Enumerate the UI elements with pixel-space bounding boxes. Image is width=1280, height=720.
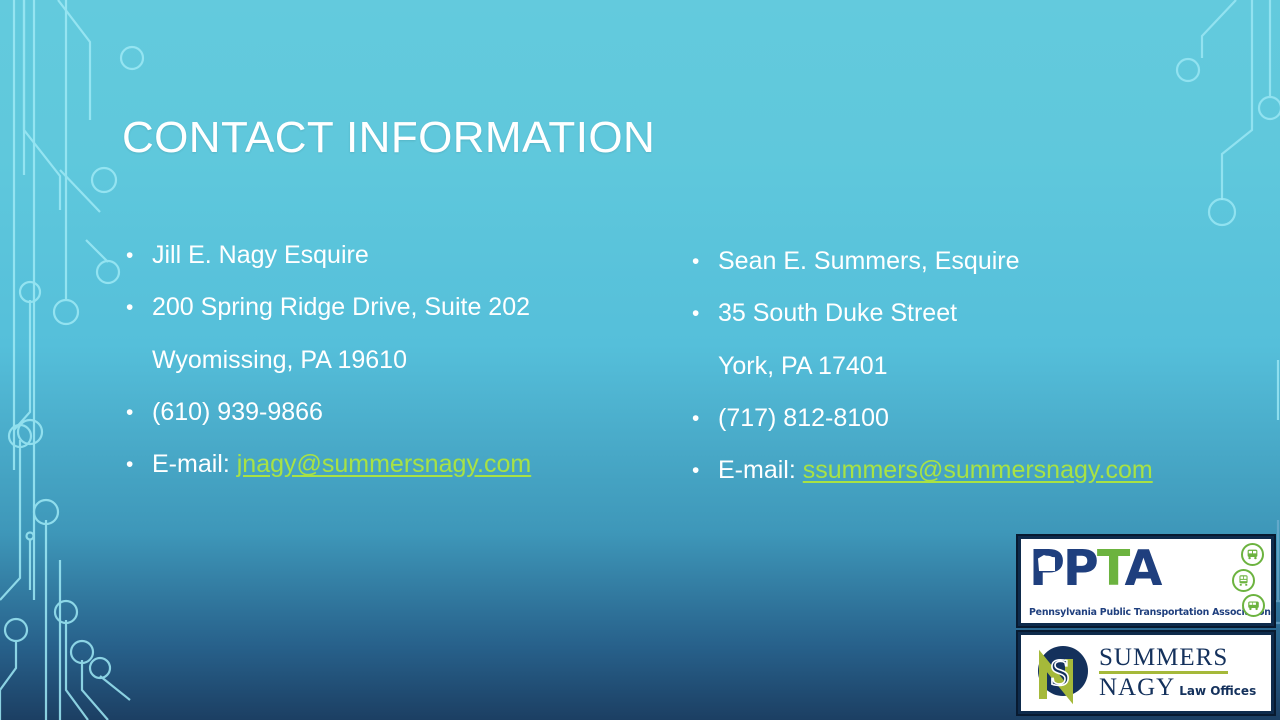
bullet-icon: • — [692, 406, 718, 432]
contact-phone: (610) 939-9866 — [152, 400, 323, 425]
train-icon — [1232, 569, 1255, 592]
list-item: • Jill E. Nagy Esquire — [126, 243, 646, 269]
bus-icon — [1241, 543, 1264, 566]
ppta-acronym-a: A — [1124, 540, 1160, 597]
list-item: • Wyomissing, PA 19610 — [126, 348, 646, 374]
ppta-tagline: Pennsylvania Public Transportation Assoc… — [1029, 607, 1271, 618]
page-title: CONTACT INFORMATION — [122, 113, 655, 163]
bullet-icon: • — [126, 243, 152, 269]
bullet-icon: • — [126, 400, 152, 426]
list-item: • (717) 812-8100 — [692, 406, 1222, 432]
bullet-icon: • — [126, 452, 152, 478]
email-link[interactable]: jnagy@summersnagy.com — [237, 450, 531, 478]
van-icon — [1242, 594, 1265, 617]
list-item: • Sean E. Summers, Esquire — [692, 249, 1222, 275]
law-offices-label: Law Offices — [1179, 684, 1256, 698]
contact-name: Jill E. Nagy Esquire — [152, 243, 369, 268]
list-item: • E-mail: jnagy@summersnagy.com — [126, 452, 646, 478]
contact-phone: (717) 812-8100 — [718, 406, 889, 431]
ppta-logo: PPTA Pennsylvania Public Transportation … — [1018, 536, 1274, 626]
nagy-wordmark: NAGY — [1099, 675, 1175, 701]
list-item: • York, PA 17401 — [692, 354, 1222, 380]
list-item: • 35 South Duke Street — [692, 301, 1222, 327]
bullet-icon: • — [692, 458, 718, 484]
list-item: • 200 Spring Ridge Drive, Suite 202 — [126, 295, 646, 321]
bullet-icon: • — [126, 295, 152, 321]
bullet-icon: • — [692, 301, 718, 327]
list-item: • E-mail: ssummers@summersnagy.com — [692, 458, 1222, 484]
summers-wordmark: SUMMERS — [1099, 645, 1228, 674]
email-label: E-mail: — [718, 456, 803, 484]
contact-city-state-zip: Wyomissing, PA 19610 — [152, 348, 407, 373]
contact-email-line: E-mail: ssummers@summersnagy.com — [718, 458, 1153, 483]
list-item: • (610) 939-9866 — [126, 400, 646, 426]
contact-city-state-zip: York, PA 17401 — [718, 354, 888, 379]
sn-monogram-icon: S — [1029, 641, 1093, 705]
svg-text:S: S — [1049, 652, 1070, 694]
ppta-acronym-t: T — [1097, 540, 1125, 597]
summers-nagy-logo: S SUMMERS NAGY Law Offices — [1018, 632, 1274, 714]
bullet-icon: • — [692, 249, 718, 275]
email-link[interactable]: ssummers@summersnagy.com — [803, 456, 1153, 484]
contact-email-line: E-mail: jnagy@summersnagy.com — [152, 452, 531, 477]
email-label: E-mail: — [152, 450, 237, 478]
contact-block-left: • Jill E. Nagy Esquire • 200 Spring Ridg… — [126, 243, 646, 504]
contact-street: 35 South Duke Street — [718, 301, 957, 326]
pennsylvania-state-icon — [1038, 555, 1055, 571]
slide-canvas: CONTACT INFORMATION • Jill E. Nagy Esqui… — [0, 0, 1280, 720]
contact-street: 200 Spring Ridge Drive, Suite 202 — [152, 295, 530, 320]
contact-name: Sean E. Summers, Esquire — [718, 249, 1020, 274]
contact-block-right: • Sean E. Summers, Esquire • 35 South Du… — [692, 249, 1222, 510]
